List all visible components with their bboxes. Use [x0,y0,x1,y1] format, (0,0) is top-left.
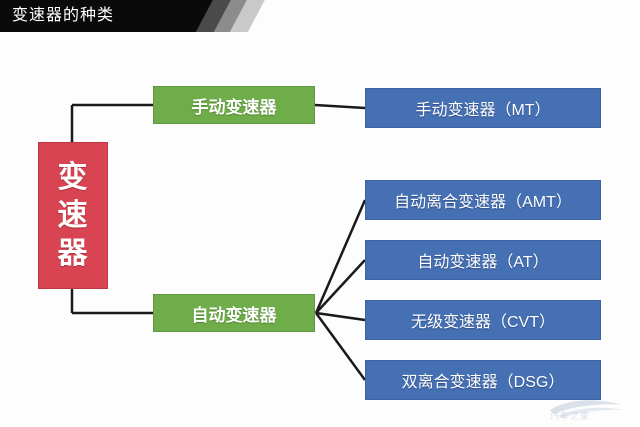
connector-manual-to-mt [315,105,365,108]
node-automatic-transmission[interactable]: 自动变速器 [153,294,315,332]
node-transmission-root[interactable]: 变 速 器 [38,142,108,289]
watermark-logo: 汽车之家 [548,396,636,424]
node-dsg[interactable]: 双离合变速器（DSG） [365,360,601,400]
node-cvt[interactable]: 无级变速器（CVT） [365,300,601,340]
node-root-char-3: 器 [58,235,89,273]
connector-auto-to-amt [316,200,365,313]
node-manual-transmission[interactable]: 手动变速器 [153,86,315,124]
node-at[interactable]: 自动变速器（AT） [365,240,601,280]
node-root-char-1: 变 [58,159,89,197]
connector-auto-to-at [316,260,365,313]
watermark-label: 汽车之家 [550,409,590,422]
watermark-swoosh-icon [548,396,636,424]
header-banner: 变速器的种类 [0,0,640,32]
node-root-label-stack: 变 速 器 [58,159,89,273]
node-amt[interactable]: 自动离合变速器（AMT） [365,180,601,220]
node-root-char-2: 速 [58,197,89,235]
slide-canvas: 变速器的种类 变 速 器 手动变速器 自动变速器 手动变速器（MT） 自动离合变… [0,0,640,427]
node-mt[interactable]: 手动变速器（MT） [365,88,601,128]
page-title: 变速器的种类 [12,5,114,27]
connector-auto-to-cvt [316,313,365,320]
connector-auto-to-dsg [316,313,365,380]
